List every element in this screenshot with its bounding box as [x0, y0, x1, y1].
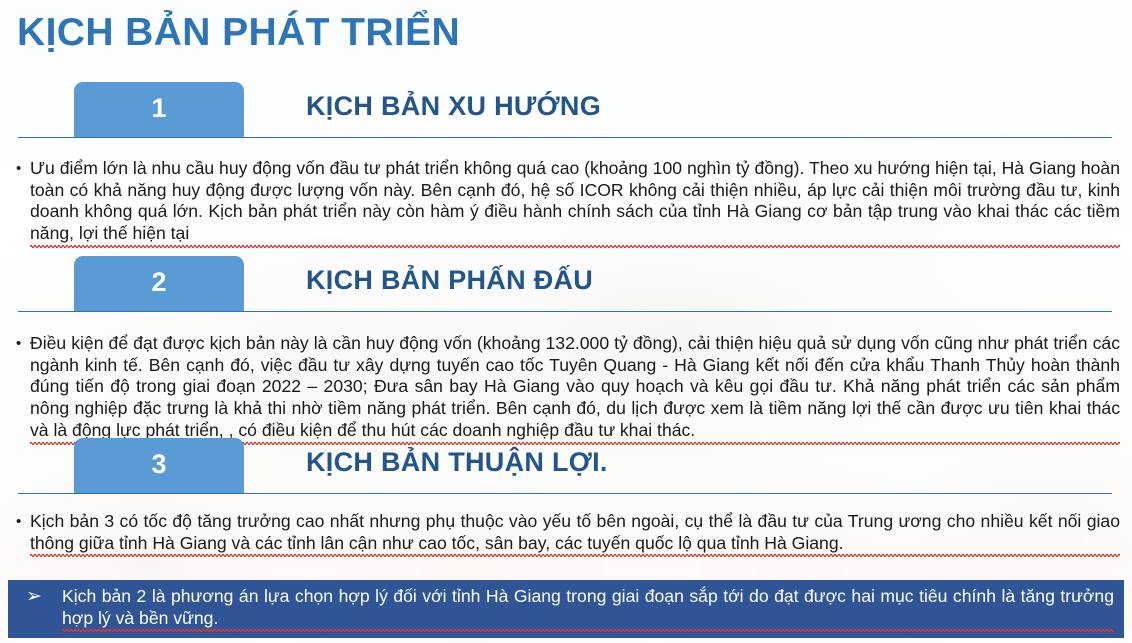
section-header-3: 3 KỊCH BẢN THUẬN LỢI.: [0, 438, 1132, 498]
section-body-text-3: Kịch bản 3 có tốc độ tăng trưởng cao nhấ…: [30, 511, 1120, 557]
section-paragraph-3: • Kịch bản 3 có tốc độ tăng trưởng cao n…: [16, 511, 1120, 557]
section-body-text-1: Ưu điểm lớn là nhu cầu huy động vốn đầu …: [30, 158, 1120, 248]
section-divider-2: [18, 311, 1112, 312]
section-paragraph-2: • Điều kiện để đạt được kịch bản này là …: [16, 333, 1120, 445]
conclusion-banner-text: Kịch bản 2 là phương án lựa chọn hợp lý …: [62, 586, 1114, 632]
page-title: KỊCH BẢN PHÁT TRIỂN: [17, 13, 460, 54]
section-heading-2: KỊCH BẢN PHẤN ĐẤU: [306, 265, 593, 296]
section-paragraph-1: • Ưu điểm lớn là nhu cầu huy động vốn đầ…: [16, 158, 1120, 248]
bullet-marker-1: •: [16, 158, 21, 180]
section-divider-1: [18, 137, 1112, 138]
section-divider-3: [18, 493, 1112, 494]
conclusion-banner-row: ➢ Kịch bản 2 là phương án lựa chọn hợp l…: [26, 586, 1114, 632]
slide-content: KỊCH BẢN PHÁT TRIỂN 1 KỊCH BẢN XU HƯỚNG …: [0, 0, 1132, 643]
section-number-tab-3[interactable]: 3: [74, 438, 244, 493]
slide-canvas: KỊCH BẢN PHÁT TRIỂN 1 KỊCH BẢN XU HƯỚNG …: [0, 0, 1132, 643]
bullet-marker-3: •: [16, 511, 21, 533]
section-number-tab-1[interactable]: 1: [74, 82, 244, 137]
section-body-text-2: Điều kiện để đạt được kịch bản này là cầ…: [30, 333, 1120, 445]
section-heading-3: KỊCH BẢN THUẬN LỢI.: [306, 447, 608, 478]
conclusion-banner: ➢ Kịch bản 2 là phương án lựa chọn hợp l…: [8, 580, 1124, 638]
section-number-tab-2[interactable]: 2: [74, 256, 244, 311]
bullet-marker-2: •: [16, 333, 21, 355]
arrow-bullet-icon: ➢: [26, 586, 62, 608]
section-header-2: 2 KỊCH BẢN PHẤN ĐẤU: [0, 256, 1132, 316]
section-heading-1: KỊCH BẢN XU HƯỚNG: [306, 91, 601, 122]
section-header-1: 1 KỊCH BẢN XU HƯỚNG: [0, 82, 1132, 142]
